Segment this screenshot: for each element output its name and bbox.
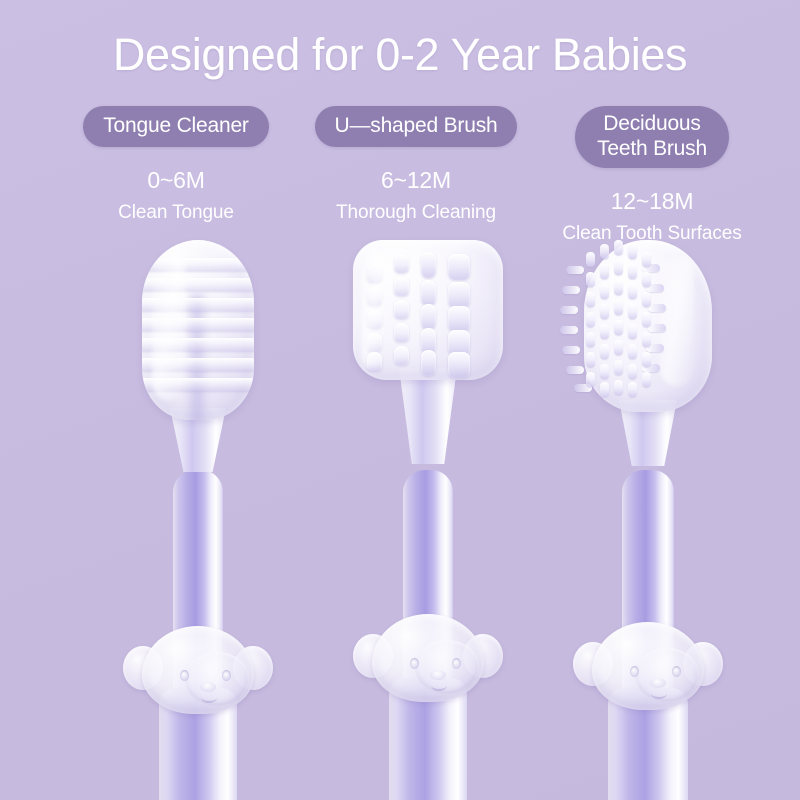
brush-bristle xyxy=(614,360,623,375)
brush-nub xyxy=(367,287,382,306)
badge-label-line: Deciduous xyxy=(597,111,707,136)
brush-bristle xyxy=(562,286,580,294)
age-range-tongue-cleaner: 0~6M xyxy=(48,167,304,194)
brush-bristle xyxy=(642,292,651,307)
bristle-field xyxy=(584,240,712,412)
brush-bristle xyxy=(614,240,623,255)
product-column-u-shaped-brush: U—shaped Brush 6~12M Thorough Cleaning xyxy=(288,106,544,225)
brush-bristle xyxy=(586,252,595,267)
brush-bristle xyxy=(628,244,637,259)
brush-bristle xyxy=(642,312,651,327)
brush-bristle xyxy=(560,326,578,334)
brush-nub xyxy=(367,264,382,283)
brush-bristle xyxy=(586,312,595,327)
brush-bristle xyxy=(586,292,595,307)
brush-bristle xyxy=(614,320,623,335)
brush-nub xyxy=(367,352,382,371)
tongue-cleaner-ridge xyxy=(142,338,254,351)
tongue-cleaner-ridge xyxy=(142,258,254,271)
brush-bristle xyxy=(628,284,637,299)
brush-bristle xyxy=(560,306,578,314)
brush-nub xyxy=(367,333,382,352)
brush-bristle xyxy=(642,252,651,267)
brush-bristle xyxy=(600,244,609,259)
brush-bristle xyxy=(600,304,609,319)
brush-nub xyxy=(448,352,470,378)
brush-bristle xyxy=(614,380,623,395)
product-image-deciduous-teeth-brush xyxy=(548,240,748,800)
badge-label-line: Tongue Cleaner xyxy=(103,113,248,138)
brush-bristle xyxy=(566,266,584,274)
badge-label-line: Teeth Brush xyxy=(597,136,707,161)
monkey-eye-left xyxy=(180,670,189,681)
age-range-deciduous-teeth-brush: 12~18M xyxy=(524,188,780,215)
brush-neck xyxy=(399,368,457,464)
brush-nub xyxy=(394,323,409,342)
monkey-eye-right xyxy=(452,658,461,669)
product-image-tongue-cleaner xyxy=(108,240,288,800)
monkey-eye-right xyxy=(222,670,231,681)
brush-bristle xyxy=(648,324,666,332)
brush-nub xyxy=(367,310,382,329)
badge-deciduous-teeth-brush: Deciduous Teeth Brush xyxy=(575,106,729,168)
tongue-cleaner-ridge xyxy=(142,298,254,311)
tongue-cleaner-ridge xyxy=(142,378,254,391)
monkey-nose xyxy=(200,682,216,692)
monkey-face xyxy=(372,614,484,702)
brush-head-core-shadow xyxy=(184,294,210,420)
brush-bristle xyxy=(648,304,666,312)
brush-bristle xyxy=(600,324,609,339)
description-tongue-cleaner: Clean Tongue xyxy=(48,201,304,225)
page-title: Designed for 0-2 Year Babies xyxy=(0,26,800,84)
brush-nub xyxy=(394,346,409,365)
safety-guard-monkey-face xyxy=(573,620,723,712)
brush-bristle xyxy=(600,284,609,299)
brush-bristle xyxy=(642,352,651,367)
badge-u-shaped-brush: U—shaped Brush xyxy=(315,106,518,147)
monkey-nose xyxy=(430,670,446,680)
tongue-cleaner-ridge xyxy=(142,278,254,291)
brush-nub xyxy=(421,280,436,306)
brush-bristle xyxy=(586,332,595,347)
brush-head-u-shaped xyxy=(353,240,503,380)
monkey-face xyxy=(592,622,704,710)
infographic-canvas: Designed for 0-2 Year Babies Tongue Clea… xyxy=(0,0,800,800)
brush-nub xyxy=(421,350,436,376)
brush-bristle xyxy=(586,352,595,367)
monkey-nose xyxy=(650,678,666,688)
brush-bristle xyxy=(600,364,609,379)
product-column-tongue-cleaner: Tongue Cleaner 0~6M Clean Tongue xyxy=(48,106,304,225)
brush-bristle xyxy=(628,304,637,319)
brush-bristle xyxy=(600,344,609,359)
brush-bristle xyxy=(628,364,637,379)
brush-nub xyxy=(394,300,409,319)
brush-bristle xyxy=(586,372,595,387)
brush-bristle xyxy=(628,344,637,359)
brush-head-tongue-cleaner xyxy=(142,240,254,420)
brush-bristle xyxy=(642,332,651,347)
monkey-face xyxy=(142,626,254,714)
monkey-mouth xyxy=(651,688,667,699)
brush-bristle xyxy=(614,260,623,275)
monkey-eye-left xyxy=(630,666,639,677)
monkey-muzzle xyxy=(415,640,479,694)
tongue-cleaner-ridge xyxy=(142,358,254,371)
brush-nub xyxy=(421,304,436,330)
brush-nub xyxy=(448,254,470,280)
brush-nub xyxy=(394,254,409,273)
monkey-muzzle xyxy=(635,648,699,702)
monkey-mouth xyxy=(431,680,447,691)
brush-nub xyxy=(448,306,470,332)
brush-nub xyxy=(421,252,436,278)
brush-bristle xyxy=(586,272,595,287)
brush-bristle xyxy=(628,382,637,397)
product-image-u-shaped-brush xyxy=(330,240,526,800)
brush-bristle xyxy=(600,382,609,397)
badge-tongue-cleaner: Tongue Cleaner xyxy=(83,106,268,147)
brush-bristle xyxy=(628,324,637,339)
brush-bristle xyxy=(566,366,584,374)
brush-nub xyxy=(448,282,470,308)
monkey-mouth xyxy=(201,692,217,703)
brush-bristle xyxy=(642,372,651,387)
monkey-eye-left xyxy=(410,658,419,669)
product-column-deciduous-teeth-brush: Deciduous Teeth Brush 12~18M Clean Tooth… xyxy=(524,106,780,246)
brush-nub xyxy=(394,277,409,296)
tongue-cleaner-ridge xyxy=(142,318,254,331)
age-range-u-shaped-brush: 6~12M xyxy=(288,167,544,194)
safety-guard-monkey-face xyxy=(353,612,503,704)
brush-bristle xyxy=(614,340,623,355)
brush-bristle xyxy=(614,280,623,295)
brush-bristle xyxy=(628,264,637,279)
badge-label-line: U—shaped Brush xyxy=(335,113,498,138)
monkey-eye-right xyxy=(672,666,681,677)
brush-bristle xyxy=(642,272,651,287)
description-u-shaped-brush: Thorough Cleaning xyxy=(288,201,544,225)
monkey-muzzle xyxy=(185,652,249,706)
safety-guard-monkey-face xyxy=(123,624,273,716)
brush-bristle xyxy=(562,346,580,354)
brush-bristle xyxy=(600,264,609,279)
brush-bristle xyxy=(614,300,623,315)
